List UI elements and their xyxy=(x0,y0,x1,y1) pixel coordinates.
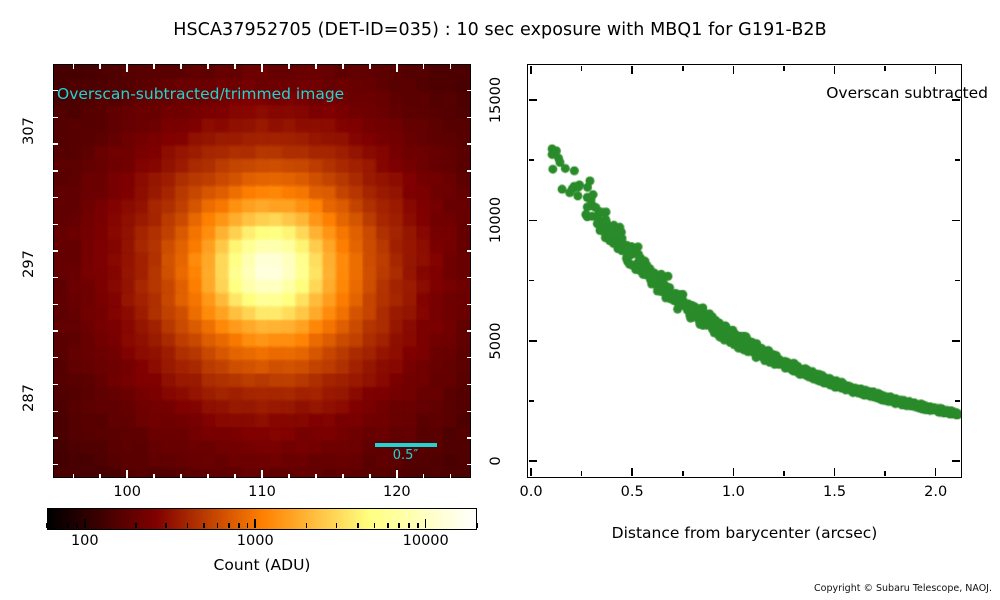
image-ytick-right xyxy=(467,437,472,438)
image-ytick-right xyxy=(467,250,472,251)
image-xtick-top xyxy=(396,64,397,72)
scatter-xtick-top xyxy=(733,66,735,74)
image-ytick xyxy=(53,197,58,198)
image-ytick xyxy=(53,277,58,278)
image-ytick-right xyxy=(467,197,472,198)
image-xticklabel: 110 xyxy=(248,484,276,500)
scatter-xtick xyxy=(884,471,886,476)
scatter-ytick-right xyxy=(955,400,960,402)
scatter-ytick-right xyxy=(955,159,960,161)
scatter-yticklabel: 15000 xyxy=(488,75,504,125)
image-xtick xyxy=(99,474,100,479)
colorbar-tick xyxy=(67,523,69,529)
colorbar-tick xyxy=(357,523,359,529)
image-xtick-top xyxy=(450,64,451,69)
colorbar-tick xyxy=(58,523,60,529)
image-ytick xyxy=(53,170,58,171)
image-xtick-top xyxy=(423,64,424,69)
image-ytick xyxy=(53,143,58,144)
image-ytick xyxy=(53,250,58,251)
image-ytick-right xyxy=(467,357,472,358)
image-ytick-right xyxy=(467,117,472,118)
image-ytick-right xyxy=(467,464,472,465)
colorbar-tick xyxy=(46,523,48,529)
colorbar-tick xyxy=(417,523,419,529)
image-xticklabel: 120 xyxy=(383,484,411,500)
image-xtick-top xyxy=(315,64,316,69)
scatter-xtick-top xyxy=(834,66,836,74)
copyright-notice: Copyright © Subaru Telescope, NAOJ. xyxy=(814,583,992,594)
image-xtick xyxy=(207,474,208,479)
colorbar xyxy=(47,508,477,530)
scatter-yticklabel: 10000 xyxy=(488,195,504,245)
scatter-xtick xyxy=(783,471,785,476)
image-xtick xyxy=(315,474,316,479)
scatter-xtick-top xyxy=(631,66,633,74)
psf-image-panel xyxy=(53,64,471,478)
image-yticklabel: 297 xyxy=(21,244,37,284)
colorbar-tick xyxy=(84,519,86,528)
scatter-xtick xyxy=(581,471,583,476)
image-ytick-right xyxy=(467,304,472,305)
colorbar-title: Count (ADU) xyxy=(47,556,477,574)
scatter-xticklabel: 2.0 xyxy=(924,484,947,500)
scatter-xtick xyxy=(834,468,836,476)
image-ytick-right xyxy=(467,170,472,171)
colorbar-tick xyxy=(306,523,308,529)
radial-profile-canvas xyxy=(528,65,961,477)
psf-image-canvas xyxy=(54,65,470,477)
image-xtick-top xyxy=(234,64,235,69)
colorbar-tick xyxy=(238,523,240,529)
radial-profile-panel xyxy=(527,64,962,478)
colorbar-tick xyxy=(336,523,338,529)
scatter-ytick xyxy=(529,99,537,101)
image-xtick xyxy=(342,474,343,479)
image-xtick-top xyxy=(153,64,154,69)
image-xtick-top xyxy=(126,64,127,72)
scatter-xtick xyxy=(530,468,532,476)
image-xtick xyxy=(153,474,154,479)
figure-title: HSCA37952705 (DET-ID=035) : 10 sec expos… xyxy=(0,20,1000,40)
image-xtick-top xyxy=(369,64,370,69)
scatter-xtick-top xyxy=(530,66,532,74)
image-yticklabel: 287 xyxy=(21,378,37,418)
colorbar-tick xyxy=(187,523,189,529)
image-ytick xyxy=(53,437,58,438)
image-xtick xyxy=(396,470,397,478)
image-ytick-right xyxy=(467,143,472,144)
image-xtick xyxy=(180,474,181,479)
colorbar-tick xyxy=(135,523,137,529)
colorbar-tick xyxy=(217,523,219,529)
image-xtick xyxy=(234,474,235,479)
image-ytick-right xyxy=(467,330,472,331)
colorbar-ticklabel: 100 xyxy=(71,533,99,549)
image-yticklabel: 307 xyxy=(21,111,37,151)
image-ytick xyxy=(53,411,58,412)
image-ytick xyxy=(53,90,58,91)
image-ytick-right xyxy=(467,384,472,385)
scatter-ytick xyxy=(529,400,534,402)
image-xtick xyxy=(288,474,289,479)
scatter-xticklabel: 0.5 xyxy=(621,484,644,500)
colorbar-tick xyxy=(476,523,478,529)
image-ytick-right xyxy=(467,90,472,91)
image-ytick xyxy=(53,224,58,225)
scatter-xtick-top xyxy=(935,66,937,74)
colorbar-tick xyxy=(76,523,78,529)
scatter-ytick xyxy=(529,220,537,222)
image-ytick-right xyxy=(467,224,472,225)
figure-root: HSCA37952705 (DET-ID=035) : 10 sec expos… xyxy=(0,0,1000,600)
image-ytick xyxy=(53,384,58,385)
image-xtick xyxy=(450,474,451,479)
image-xtick-top xyxy=(73,64,74,69)
scatter-xtick-top xyxy=(783,66,785,71)
colorbar-tick xyxy=(398,523,400,529)
scatter-xticklabel: 1.5 xyxy=(823,484,846,500)
image-ytick xyxy=(53,304,58,305)
colorbar-gradient xyxy=(48,509,476,529)
image-ytick xyxy=(53,330,58,331)
image-ytick-right xyxy=(467,277,472,278)
scatter-xticklabel: 1.0 xyxy=(722,484,745,500)
scatter-yticklabel: 0 xyxy=(488,436,504,486)
colorbar-tick xyxy=(408,523,410,529)
image-xtick xyxy=(369,474,370,479)
image-xtick-top xyxy=(180,64,181,69)
scatter-xticklabel: 0.0 xyxy=(520,484,543,500)
image-xtick xyxy=(73,474,74,479)
scatter-yticklabel: 5000 xyxy=(488,316,504,366)
colorbar-ticklabel: 10000 xyxy=(403,533,449,549)
scatter-ytick xyxy=(529,460,537,462)
image-xtick xyxy=(261,470,262,478)
colorbar-tick xyxy=(374,523,376,529)
scatter-ytick xyxy=(529,340,537,342)
scatter-xtick-top xyxy=(682,66,684,71)
scatter-xtick xyxy=(631,468,633,476)
image-ytick xyxy=(53,117,58,118)
image-xtick-top xyxy=(342,64,343,69)
colorbar-tick xyxy=(254,519,256,528)
scatter-ytick-right xyxy=(952,99,960,101)
scatter-ytick xyxy=(529,280,534,282)
scatter-panel-annotation: Overscan subtracted xyxy=(826,84,988,102)
image-xtick xyxy=(423,474,424,479)
image-xtick xyxy=(126,470,127,478)
scatter-xtick-top xyxy=(581,66,583,71)
scatter-xtick xyxy=(733,468,735,476)
colorbar-tick xyxy=(387,523,389,529)
colorbar-ticklabel: 1000 xyxy=(237,533,274,549)
colorbar-tick xyxy=(425,519,427,528)
colorbar-tick xyxy=(203,523,205,529)
scatter-ytick-right xyxy=(952,340,960,342)
scatter-xtick-top xyxy=(884,66,886,71)
image-xtick-top xyxy=(261,64,262,72)
image-xtick-top xyxy=(288,64,289,69)
colorbar-tick xyxy=(165,523,167,529)
image-ytick xyxy=(53,357,58,358)
scatter-ytick xyxy=(529,159,534,161)
image-ytick-right xyxy=(467,411,472,412)
scatter-ytick-right xyxy=(952,460,960,462)
colorbar-tick xyxy=(247,523,249,529)
image-xtick-top xyxy=(99,64,100,69)
scatter-xaxis-title: Distance from barycenter (arcsec) xyxy=(527,524,962,542)
image-xticklabel: 100 xyxy=(113,484,141,500)
scatter-xtick xyxy=(935,468,937,476)
image-xtick-top xyxy=(207,64,208,69)
scatter-xtick xyxy=(682,471,684,476)
colorbar-tick xyxy=(228,523,230,529)
scatter-ytick-right xyxy=(955,280,960,282)
image-ytick xyxy=(53,464,58,465)
scatter-ytick-right xyxy=(952,220,960,222)
